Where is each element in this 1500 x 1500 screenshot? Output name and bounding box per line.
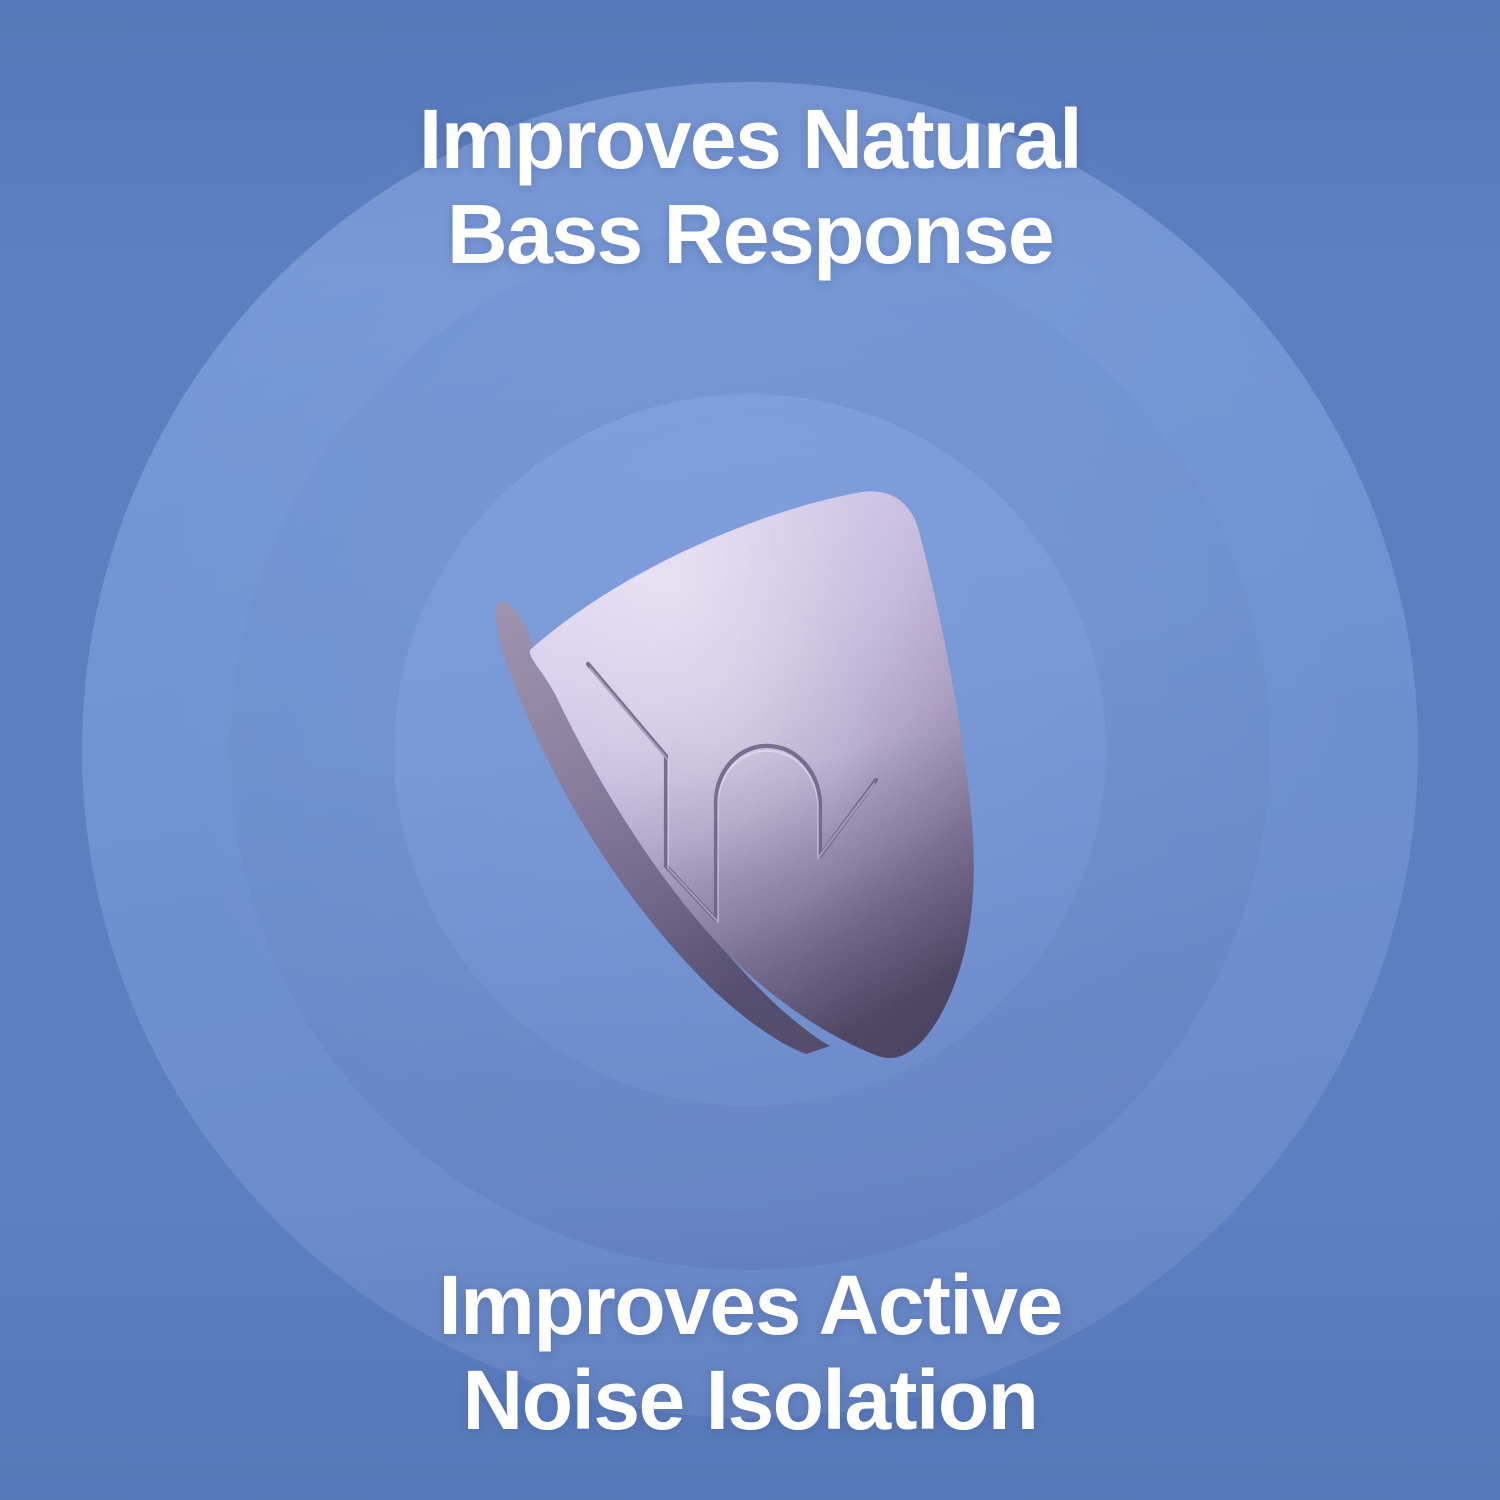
headline-bottom-line-2: Noise Isolation	[0, 1353, 1500, 1448]
headline-top-line-1: Improves Natural	[0, 92, 1500, 187]
headline-bottom: Improves Active Noise Isolation	[0, 1258, 1500, 1448]
headline-top-line-2: Bass Response	[0, 187, 1500, 282]
headline-bottom-line-1: Improves Active	[0, 1258, 1500, 1353]
headline-top: Improves Natural Bass Response	[0, 92, 1500, 282]
product-feature-callout: Improves Natural Bass Response Improves …	[0, 0, 1500, 1500]
product-image-foam-ear-tip	[470, 450, 1070, 1090]
